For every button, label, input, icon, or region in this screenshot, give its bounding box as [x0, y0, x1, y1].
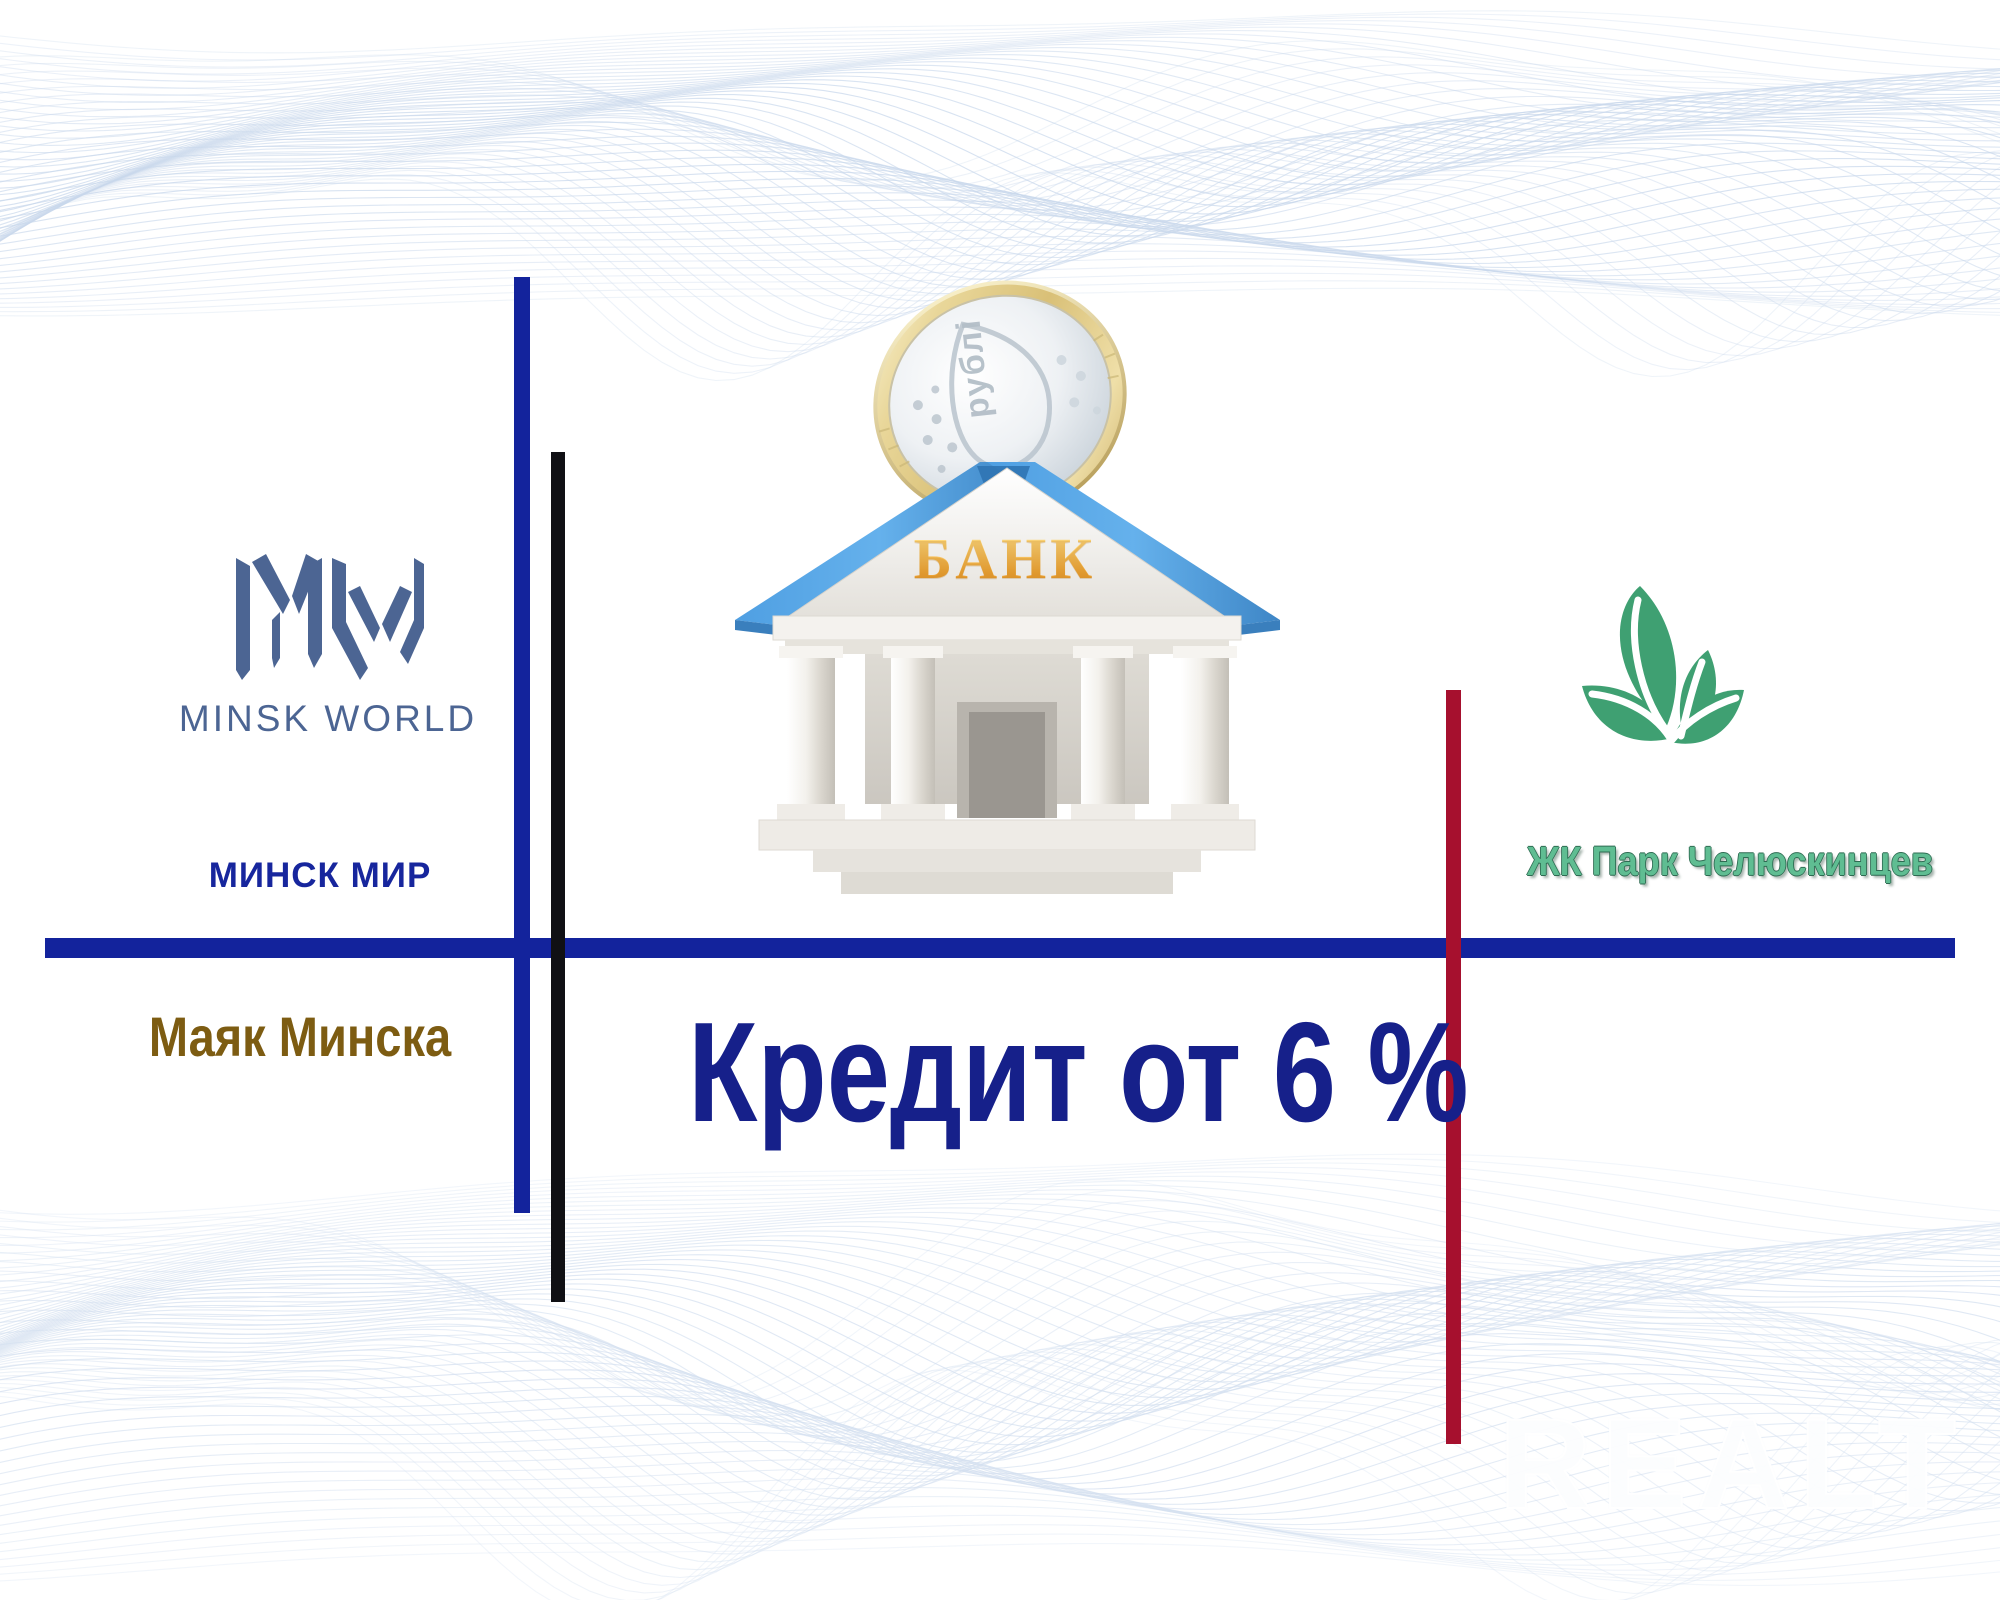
horizontal-divider — [45, 938, 1955, 958]
mayak-minska-label: Маяк Минска — [140, 1004, 459, 1069]
vertical-divider-black — [551, 452, 565, 1302]
bank-building-icon — [725, 440, 1290, 900]
promo-banner: REALT MINSK WORLD МИНСК МИР Маяк Минска — [0, 0, 2000, 1600]
realt-watermark: REALT — [1499, 1391, 1966, 1538]
minsk-mir-label: МИНСК МИР — [150, 856, 490, 896]
mw-monogram-icon — [228, 552, 428, 682]
minsk-world-wordmark: MINSK WORLD — [158, 698, 498, 740]
vertical-divider-blue — [514, 277, 530, 1213]
headline-credit-rate: Кредит от 6 % — [688, 1002, 1392, 1144]
bank-sign-label: БАНК — [860, 525, 1150, 592]
jk-park-chelyuskintsev-label: ЖК Парк Челюскинцев — [1510, 838, 1950, 885]
green-leaves-icon — [1548, 578, 1828, 808]
